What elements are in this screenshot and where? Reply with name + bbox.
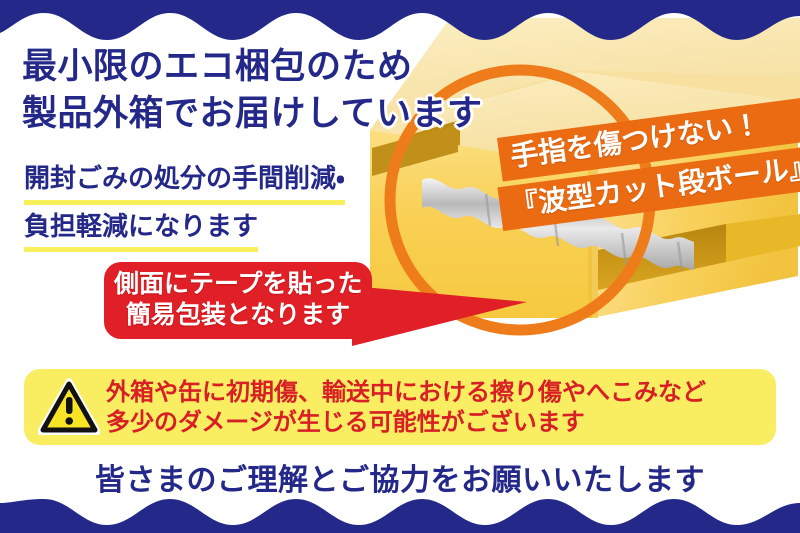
headline-line-1: 最小限のエコ梱包のため bbox=[22, 44, 482, 91]
red-callout-box: 側面にテープを貼った 簡易包装となります bbox=[104, 262, 372, 339]
warning-line-2: 多少のダメージが生じる可能性がございます bbox=[106, 407, 762, 437]
subcopy: 開封ごみの処分の手間削減・ 負担軽減になります bbox=[24, 160, 345, 255]
headline: 最小限のエコ梱包のため 製品外箱でお届けしています bbox=[22, 44, 482, 138]
warning-panel: 外箱や缶に初期傷、輸送中における擦り傷やへこみなど 多少のダメージが生じる可能性… bbox=[24, 369, 776, 445]
subcopy-line-2: 負担軽減になります bbox=[24, 208, 258, 253]
red-callout-line-1: 側面にテープを貼った bbox=[114, 269, 362, 300]
eco-packaging-banner: 最小限のエコ梱包のため 製品外箱でお届けしています 開封ごみの処分の手間削減・ … bbox=[0, 0, 800, 533]
closing-line: 皆さまのご理解とご協力をお願いいたします bbox=[0, 455, 800, 499]
red-callout-line-2: 簡易包装となります bbox=[114, 300, 362, 331]
warning-line-1: 外箱や缶に初期傷、輸送中における擦り傷やへこみなど bbox=[106, 377, 762, 407]
warning-text: 外箱や缶に初期傷、輸送中における擦り傷やへこみなど 多少のダメージが生じる可能性… bbox=[106, 377, 762, 437]
warning-triangle-icon bbox=[38, 378, 100, 436]
headline-line-2: 製品外箱でお届けしています bbox=[22, 91, 482, 138]
subcopy-line-1: 開封ごみの処分の手間削減・ bbox=[24, 160, 345, 205]
